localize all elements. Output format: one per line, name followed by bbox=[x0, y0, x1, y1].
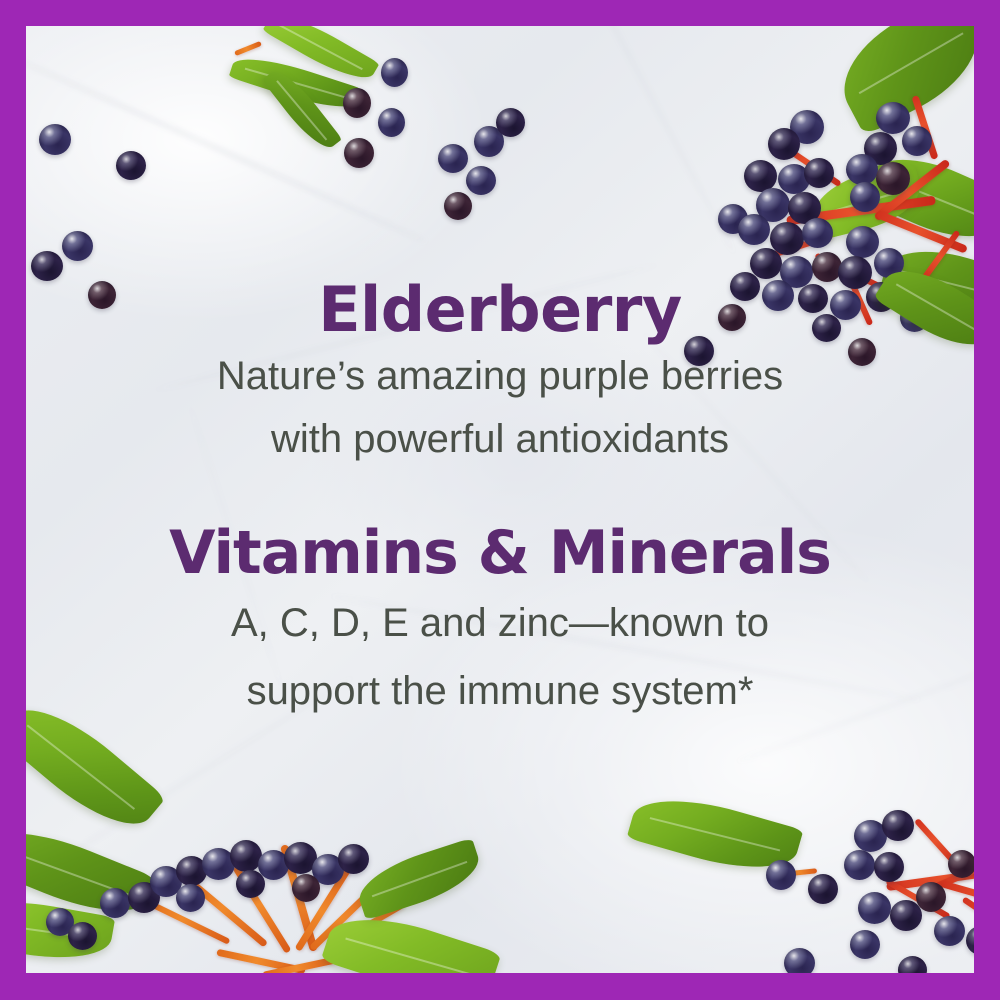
berry-stem bbox=[914, 818, 960, 868]
bottom-left-berry-cluster bbox=[116, 846, 406, 973]
leaf bbox=[262, 63, 342, 155]
berry bbox=[39, 124, 71, 155]
page-title-elderberry: Elderberry bbox=[26, 278, 974, 342]
berry bbox=[750, 248, 782, 279]
berry bbox=[176, 856, 207, 886]
berry bbox=[744, 160, 777, 192]
bottom-right-berry-cluster bbox=[836, 796, 974, 973]
berry-stem bbox=[262, 956, 338, 973]
berry bbox=[846, 154, 878, 185]
berry bbox=[948, 850, 974, 878]
berry-stem bbox=[780, 143, 841, 187]
subtitle-elderberry-line1: Nature’s amazing purple berries bbox=[26, 348, 974, 405]
berry bbox=[802, 218, 833, 248]
berry bbox=[46, 908, 74, 936]
berry bbox=[804, 158, 834, 188]
berry-stem bbox=[142, 897, 231, 944]
leaf bbox=[26, 814, 156, 930]
berry bbox=[874, 248, 904, 278]
berry bbox=[876, 102, 910, 134]
subtitle-vitamins-line2: support the immune system* bbox=[26, 662, 974, 720]
berry bbox=[202, 848, 235, 880]
berry bbox=[496, 108, 525, 137]
page-title-vitamins-minerals: Vitamins & Minerals bbox=[26, 522, 974, 584]
berry-stem bbox=[876, 210, 968, 253]
berry-stem bbox=[330, 901, 406, 948]
berry bbox=[718, 204, 748, 234]
berry bbox=[466, 166, 496, 195]
berry bbox=[902, 126, 932, 156]
berry-stem bbox=[280, 844, 318, 952]
berry bbox=[850, 930, 880, 959]
berry bbox=[378, 108, 405, 137]
bottom-right-stray-berries bbox=[766, 816, 906, 973]
leaf-stem bbox=[783, 868, 817, 877]
text-block: Elderberry Nature’s amazing purple berri… bbox=[26, 278, 974, 720]
berry bbox=[438, 144, 468, 173]
bottom-right-leaf bbox=[631, 796, 831, 906]
leaf bbox=[229, 48, 364, 117]
berry bbox=[62, 231, 93, 261]
berry bbox=[312, 854, 344, 885]
leaf bbox=[807, 161, 927, 240]
berry-stem bbox=[295, 863, 354, 952]
berry bbox=[876, 162, 910, 195]
berry bbox=[934, 916, 965, 946]
berry bbox=[858, 892, 891, 924]
poster-frame: Elderberry Nature’s amazing purple berri… bbox=[0, 0, 1000, 1000]
berry bbox=[128, 882, 160, 913]
leaf-stem bbox=[234, 41, 262, 56]
marble-vein bbox=[555, 26, 736, 256]
berry bbox=[808, 874, 838, 904]
berry bbox=[68, 922, 97, 950]
berry bbox=[116, 151, 146, 180]
berry bbox=[474, 126, 504, 157]
berry-stem bbox=[184, 875, 268, 947]
leaf bbox=[262, 26, 379, 89]
leaf bbox=[321, 901, 502, 973]
berry bbox=[236, 870, 265, 898]
subtitle-vitamins-line1: A, C, D, E and zinc—known to bbox=[26, 594, 974, 652]
berry bbox=[844, 850, 875, 880]
berry-stem bbox=[786, 196, 936, 226]
berry-stem bbox=[309, 880, 383, 952]
marble-background: Elderberry Nature’s amazing purple berri… bbox=[26, 26, 974, 973]
berry bbox=[444, 192, 472, 220]
berry bbox=[916, 882, 946, 912]
berry bbox=[230, 840, 262, 872]
bottom-left-leaves bbox=[26, 736, 232, 973]
bottom-center-leaf bbox=[356, 856, 486, 936]
berry-stem bbox=[233, 865, 292, 954]
berry bbox=[770, 222, 804, 255]
berry bbox=[284, 842, 317, 874]
bottom-left-lower-leaf bbox=[326, 926, 506, 973]
berry bbox=[766, 860, 796, 890]
leaf bbox=[26, 891, 115, 968]
leaf bbox=[825, 26, 974, 136]
berry bbox=[788, 192, 821, 224]
berry bbox=[898, 956, 927, 973]
top-left-leaf-sprig bbox=[226, 26, 436, 198]
berry bbox=[850, 182, 880, 212]
berry bbox=[890, 900, 922, 931]
leaf bbox=[352, 838, 486, 921]
berry bbox=[784, 948, 815, 973]
berry bbox=[846, 226, 879, 258]
berry bbox=[258, 850, 289, 880]
berry bbox=[864, 132, 897, 165]
berry bbox=[344, 138, 374, 168]
berry-stem bbox=[873, 159, 950, 222]
berry-stem bbox=[886, 865, 974, 891]
berry-stem bbox=[761, 233, 833, 262]
berry-stem bbox=[962, 896, 974, 949]
berry bbox=[100, 888, 130, 918]
berry bbox=[768, 128, 800, 160]
berry-stem bbox=[935, 841, 974, 890]
berry-stem bbox=[216, 949, 305, 973]
berry bbox=[176, 884, 205, 912]
berry-stem bbox=[922, 230, 961, 280]
berry bbox=[778, 164, 810, 194]
berry bbox=[738, 214, 770, 245]
berry bbox=[343, 88, 371, 118]
berry bbox=[966, 926, 974, 955]
leaf bbox=[627, 784, 804, 884]
berry bbox=[874, 852, 904, 882]
berry bbox=[756, 188, 790, 222]
berry bbox=[292, 874, 320, 902]
berry bbox=[150, 866, 182, 897]
berry-stem bbox=[885, 878, 950, 919]
berry bbox=[381, 58, 408, 87]
berry bbox=[31, 251, 63, 281]
berry bbox=[882, 810, 914, 841]
leaf bbox=[859, 140, 974, 255]
subtitle-elderberry-line2: with powerful antioxidants bbox=[26, 411, 974, 468]
berry bbox=[338, 844, 369, 874]
marble-vein bbox=[26, 53, 427, 244]
berry-stem bbox=[911, 95, 938, 160]
berry bbox=[854, 820, 887, 852]
berry bbox=[790, 110, 824, 144]
berry-stem bbox=[941, 880, 974, 914]
